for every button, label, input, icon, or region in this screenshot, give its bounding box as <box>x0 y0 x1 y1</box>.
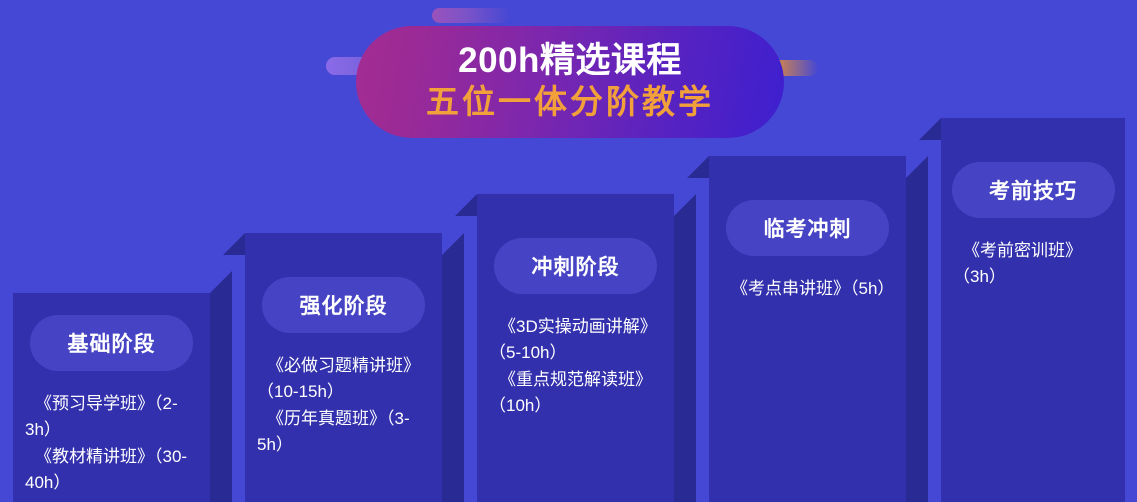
stage-badge-3: 冲刺阶段 <box>494 238 657 294</box>
step-side-cap <box>210 271 232 293</box>
step-top-face <box>941 118 1125 140</box>
course-list-3: 《3D实操动画讲解》（5-10h） 《重点规范解读班》（10h） <box>487 314 664 419</box>
course-item: 《考点串讲班》（5h） <box>721 276 894 302</box>
step-side-cap <box>674 194 696 216</box>
step-top-face <box>245 233 442 255</box>
course-item: 《预习导学班》（2-3h） <box>25 391 198 444</box>
step-left-bevel <box>223 233 245 255</box>
stage-step-1[interactable]: 基础阶段 《预习导学班》（2-3h） 《教材精讲班》（30-40h） <box>13 293 210 502</box>
step-side-cap <box>906 156 928 178</box>
course-item: 《历年真题班》（3-5h） <box>257 406 430 459</box>
stage-badge-1: 基础阶段 <box>30 315 193 371</box>
course-list-1: 《预习导学班》（2-3h） 《教材精讲班》（30-40h） <box>23 391 200 496</box>
course-item: 《重点规范解读班》（10h） <box>489 367 662 420</box>
course-roadmap-banner: 200h精选课程 五位一体分阶教学 基础阶段 《预习导学班》（2-3h） 《教材… <box>0 0 1137 502</box>
course-item: 《必做习题精讲班》（10-15h） <box>257 353 430 406</box>
step-side-face <box>906 178 928 502</box>
stage-step-4[interactable]: 临考冲刺 《考点串讲班》（5h） <box>709 178 906 502</box>
header-title-primary: 200h精选课程 <box>458 42 682 80</box>
course-item: 《教材精讲班》（30-40h） <box>25 444 198 497</box>
stage-step-3[interactable]: 冲刺阶段 《3D实操动画讲解》（5-10h） 《重点规范解读班》（10h） <box>477 216 674 502</box>
header-title-secondary: 五位一体分阶教学 <box>426 82 714 122</box>
course-list-5: 《考前密训班》（3h） <box>951 238 1115 291</box>
header-banner: 200h精选课程 五位一体分阶教学 <box>356 26 784 138</box>
step-side-face <box>210 293 232 502</box>
course-item: 《考前密训班》（3h） <box>953 238 1113 291</box>
step-left-bevel <box>687 156 709 178</box>
step-side-face <box>442 255 464 502</box>
step-side-face <box>674 216 696 502</box>
step-top-face <box>709 156 906 178</box>
stage-step-2[interactable]: 强化阶段 《必做习题精讲班》（10-15h） 《历年真题班》（3-5h） <box>245 255 442 502</box>
stage-badge-5: 考前技巧 <box>952 162 1115 218</box>
decorative-bar-top-purple <box>432 8 510 23</box>
step-top-face <box>477 194 674 216</box>
course-item: 《3D实操动画讲解》（5-10h） <box>489 314 662 367</box>
step-side-cap <box>442 233 464 255</box>
step-left-bevel <box>919 118 941 140</box>
step-left-bevel <box>455 194 477 216</box>
stage-badge-4: 临考冲刺 <box>726 200 889 256</box>
stage-step-5[interactable]: 考前技巧 《考前密训班》（3h） <box>941 140 1125 502</box>
stage-badge-2: 强化阶段 <box>262 277 425 333</box>
course-list-4: 《考点串讲班》（5h） <box>719 276 896 302</box>
course-list-2: 《必做习题精讲班》（10-15h） 《历年真题班》（3-5h） <box>255 353 432 458</box>
